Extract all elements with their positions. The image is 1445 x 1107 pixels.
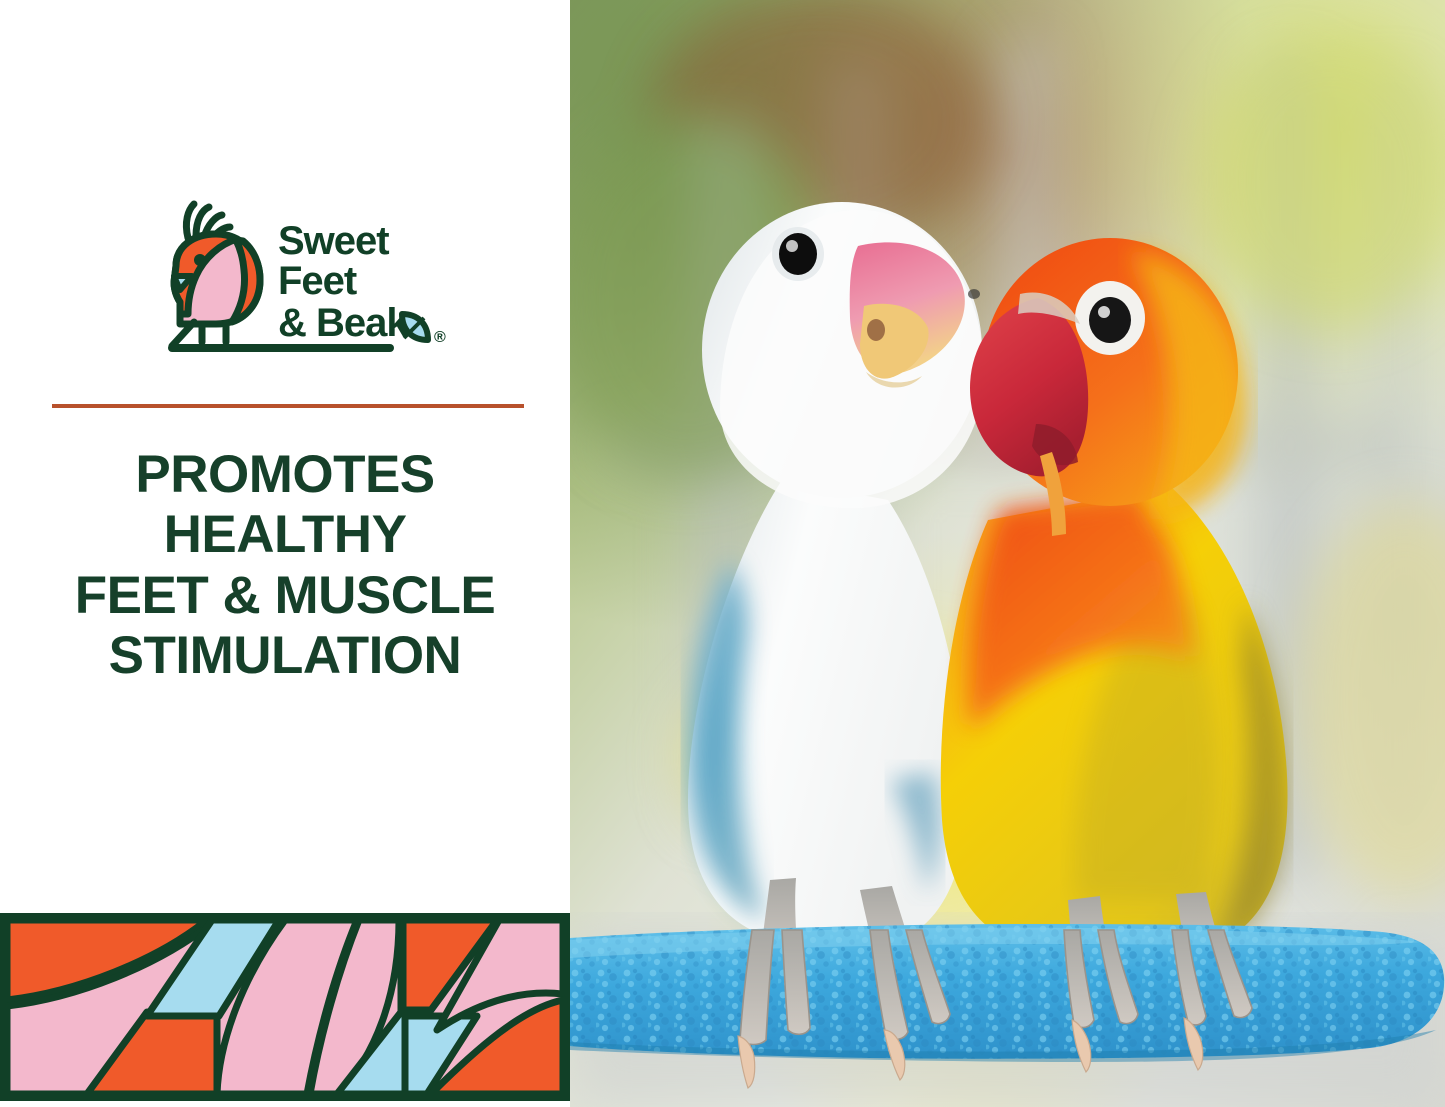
product-photo [570,0,1445,1107]
parrot-logo-icon: Sweet Feet & Beak ® [150,196,450,356]
orange-faced-lovebird [941,238,1288,964]
logo-bird-eye [194,254,206,266]
abstract-stained-glass-pattern [0,913,570,1101]
product-infographic: Sweet Feet & Beak ® PROMOTES HEALTHY FEE… [0,0,1445,1107]
divider-rule [52,404,524,408]
headline-line-3: FEET & MUSCLE [20,566,550,626]
blue-cement-perch [570,924,1444,1062]
headline-line-1: PROMOTES [20,445,550,505]
logo-text-line2: Feet [278,259,357,303]
orange-lovebird-eye [1075,281,1145,355]
page-title: PROMOTES HEALTHY FEET & MUSCLE STIMULATI… [20,445,550,687]
lovebirds-photo [570,0,1445,1107]
headline-line-2: HEALTHY [20,505,550,565]
leaf-icon [402,314,428,340]
headline-line-4: STIMULATION [20,626,550,686]
logo-text-line3: & Beak [278,301,409,345]
logo-text-line1: Sweet [278,219,389,263]
white-lovebird-eye [772,227,824,281]
registered-trademark-symbol: ® [434,329,446,346]
pattern-artwork [7,920,563,1094]
brand-logo: Sweet Feet & Beak ® [150,196,450,356]
left-info-panel: Sweet Feet & Beak ® PROMOTES HEALTHY FEE… [0,0,570,1107]
